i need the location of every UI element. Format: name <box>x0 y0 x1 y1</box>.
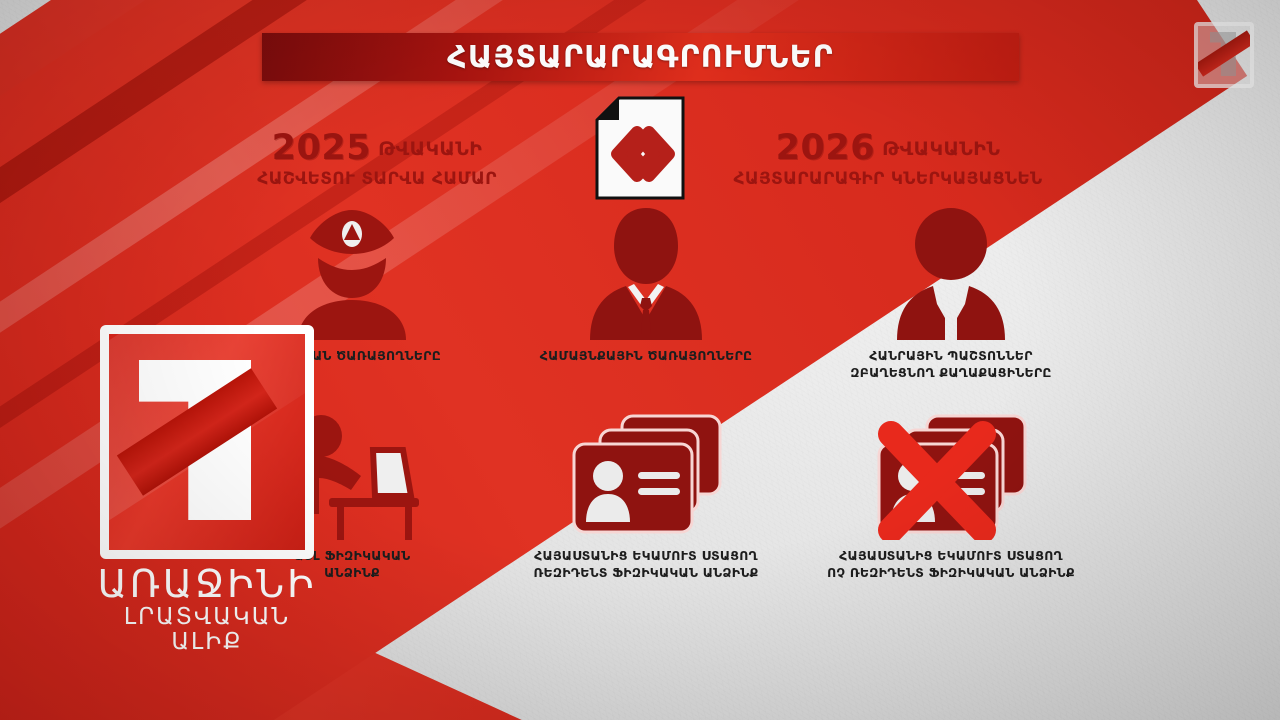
businessman-icon <box>512 200 780 340</box>
year-2025: 2025 <box>272 128 371 168</box>
year-2026: 2026 <box>776 128 875 168</box>
person-icon <box>808 200 1094 340</box>
column-heading-right-line1: 2026ԹՎԱԿԱՆԻՆ <box>710 128 1066 168</box>
id-cards-icon <box>512 400 780 540</box>
logo-title: ԱՌԱՋԻՆԻ <box>92 565 322 605</box>
channel-logo: ԱՌԱՋԻՆԻ ԼՐԱՏՎԱԿԱՆ ԱԼԻՔ <box>92 325 322 655</box>
column-heading-right: 2026ԹՎԱԿԱՆԻՆ ՀԱՅՏԱՐԱՐԱԳԻՐ ԿՆԵՐԿԱՅԱՑՆԵՆ <box>710 128 1066 190</box>
caption-public-office-citizens: ՀԱՆՐԱՅԻՆ ՊԱՇՏՈՆՆԵՐ ԶԲԱՂԵՑՆՈՂ ՔԱՂԱՔԱՑԻՆԵՐ… <box>808 348 1094 382</box>
header-bar: ՀԱՅՏԱՐԱՐԱԳՐՈՒՄՆԵՐ <box>262 33 1019 81</box>
column-heading-left-line2: ՀԱՇՎԵՏՈՒ ՏԱՐՎԱ ՀԱՄԱՐ <box>216 170 538 190</box>
channel-one-mark <box>100 325 314 559</box>
channel-one-watermark <box>1194 22 1254 88</box>
page-title: ՀԱՅՏԱՐԱՐԱԳՐՈՒՄՆԵՐ <box>447 40 834 75</box>
caption-resident-individuals: ՀԱՅԱՍՏԱՆԻՑ ԵԿԱՄՈՒՏ ՍՏԱՑՈՂ ՌԵԶԻԴԵՆՏ ՖԻԶԻԿ… <box>512 548 780 582</box>
column-heading-right-line2: ՀԱՅՏԱՐԱՐԱԳԻՐ ԿՆԵՐԿԱՅԱՑՆԵՆ <box>710 170 1066 190</box>
infographic-screen: ՀԱՅՏԱՐԱՐԱԳՐՈՒՄՆԵՐ 2025ԹՎԱԿԱՆԻ ՀԱՇՎԵՏՈՒ Տ… <box>0 0 1280 720</box>
cell-non-resident-individuals: ՀԱՅԱՍՏԱՆԻՑ ԵԿԱՄՈՒՏ ՍՏԱՑՈՂ ՈՉ ՌԵԶԻԴԵՆՏ ՖԻ… <box>808 400 1094 582</box>
year-2025-suffix: ԹՎԱԿԱՆԻ <box>378 138 482 160</box>
caption-non-resident-individuals: ՀԱՅԱՍՏԱՆԻՑ ԵԿԱՄՈՒՏ ՍՏԱՑՈՂ ՈՉ ՌԵԶԻԴԵՆՏ ՖԻ… <box>808 548 1094 582</box>
police-officer-icon <box>222 200 482 340</box>
logo-subtitle: ԼՐԱՏՎԱԿԱՆ ԱԼԻՔ <box>92 605 322 656</box>
id-cards-crossed-out-icon <box>808 400 1094 540</box>
cell-public-office-citizens: ՀԱՆՐԱՅԻՆ ՊԱՇՏՈՆՆԵՐ ԶԲԱՂԵՑՆՈՂ ՔԱՂԱՔԱՑԻՆԵՐ… <box>808 200 1094 382</box>
cell-community-employees: ՀԱՄԱՅՆՔԱՅԻՆ ԾԱՌԱՅՈՂՆԵՐԸ <box>512 200 780 365</box>
column-heading-left: 2025ԹՎԱԿԱՆԻ ՀԱՇՎԵՏՈՒ ՏԱՐՎԱ ՀԱՄԱՐ <box>216 128 538 190</box>
caption-community-employees: ՀԱՄԱՅՆՔԱՅԻՆ ԾԱՌԱՅՈՂՆԵՐԸ <box>512 348 780 365</box>
column-heading-left-line1: 2025ԹՎԱԿԱՆԻ <box>216 128 538 168</box>
document-with-chevrons-icon <box>593 96 687 204</box>
cell-resident-individuals: ՀԱՅԱՍՏԱՆԻՑ ԵԿԱՄՈՒՏ ՍՏԱՑՈՂ ՌԵԶԻԴԵՆՏ ՖԻԶԻԿ… <box>512 400 780 582</box>
year-2026-suffix: ԹՎԱԿԱՆԻՆ <box>882 138 1000 160</box>
